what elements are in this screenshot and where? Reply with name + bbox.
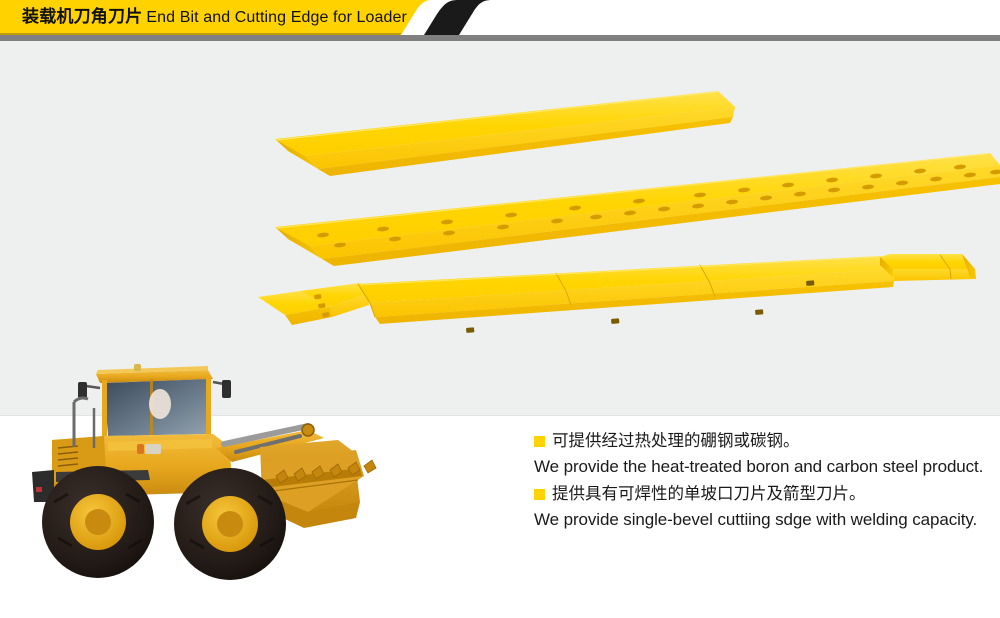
loader-beacon xyxy=(134,364,141,371)
page-header: 装载机刀角刀片End Bit and Cutting Edge for Load… xyxy=(0,0,1000,42)
loader-cab-pillar-front xyxy=(102,380,107,438)
page-title: 装载机刀角刀片End Bit and Cutting Edge for Load… xyxy=(22,5,407,29)
bullet-square-icon xyxy=(534,436,545,447)
loader-mirror-arm-left xyxy=(86,386,100,388)
feature-en-text: We provide single-bevel cuttiing sdge wi… xyxy=(534,507,996,532)
product3-right-end-bevel xyxy=(893,269,976,281)
feature-cn-line: 提供具有可焊性的单坡口刀片及箭型刀片。 xyxy=(534,481,996,507)
product3-right-end-top xyxy=(880,254,975,269)
loader-turnsignal xyxy=(137,444,144,454)
feature-en-text: We provide the heat-treated boron and ca… xyxy=(534,454,996,479)
product-cutting-edge-bolt-holes xyxy=(275,153,1000,266)
loader-arm-pivot xyxy=(302,424,314,436)
feature-cn-text: 可提供经过热处理的硼钢或碳钢。 xyxy=(552,428,800,454)
wheel-loader-illustration xyxy=(8,352,448,590)
loader-handrail-top xyxy=(74,398,88,402)
loader-front-hub xyxy=(217,511,243,537)
feature-item: 可提供经过热处理的硼钢或碳钢。 We provide the heat-trea… xyxy=(534,428,996,479)
product-curved-cutting-edge-plain xyxy=(275,91,735,176)
feature-cn-text: 提供具有可焊性的单坡口刀片及箭型刀片。 xyxy=(552,481,866,507)
loader-mirror-left xyxy=(78,382,87,398)
feature-item: 提供具有可焊性的单坡口刀片及箭型刀片。 We provide single-be… xyxy=(534,481,996,532)
loader-cab-pillar-rear xyxy=(206,377,211,435)
wheel-loader-photo xyxy=(8,352,448,590)
bullet-square-icon xyxy=(534,489,545,500)
header-underbar xyxy=(0,35,1000,41)
header-yellow-shadow-line xyxy=(0,33,402,35)
loader-mirror-right xyxy=(222,380,231,398)
loader-headlight xyxy=(145,444,161,454)
product-end-bit-and-cutting-edge-assembly xyxy=(258,254,976,333)
loader-cab xyxy=(78,364,231,438)
loader-rear-hub xyxy=(85,509,111,535)
loader-operator xyxy=(149,389,171,419)
loader-taillight xyxy=(36,487,42,492)
page-title-en: End Bit and Cutting Edge for Loader xyxy=(146,9,407,26)
feature-list: 可提供经过热处理的硼钢或碳钢。 We provide the heat-trea… xyxy=(534,428,996,532)
page-title-cn: 装载机刀角刀片 xyxy=(22,7,142,26)
product2-bevel xyxy=(310,165,1000,259)
feature-cn-line: 可提供经过热处理的硼钢或碳钢。 xyxy=(534,428,996,454)
